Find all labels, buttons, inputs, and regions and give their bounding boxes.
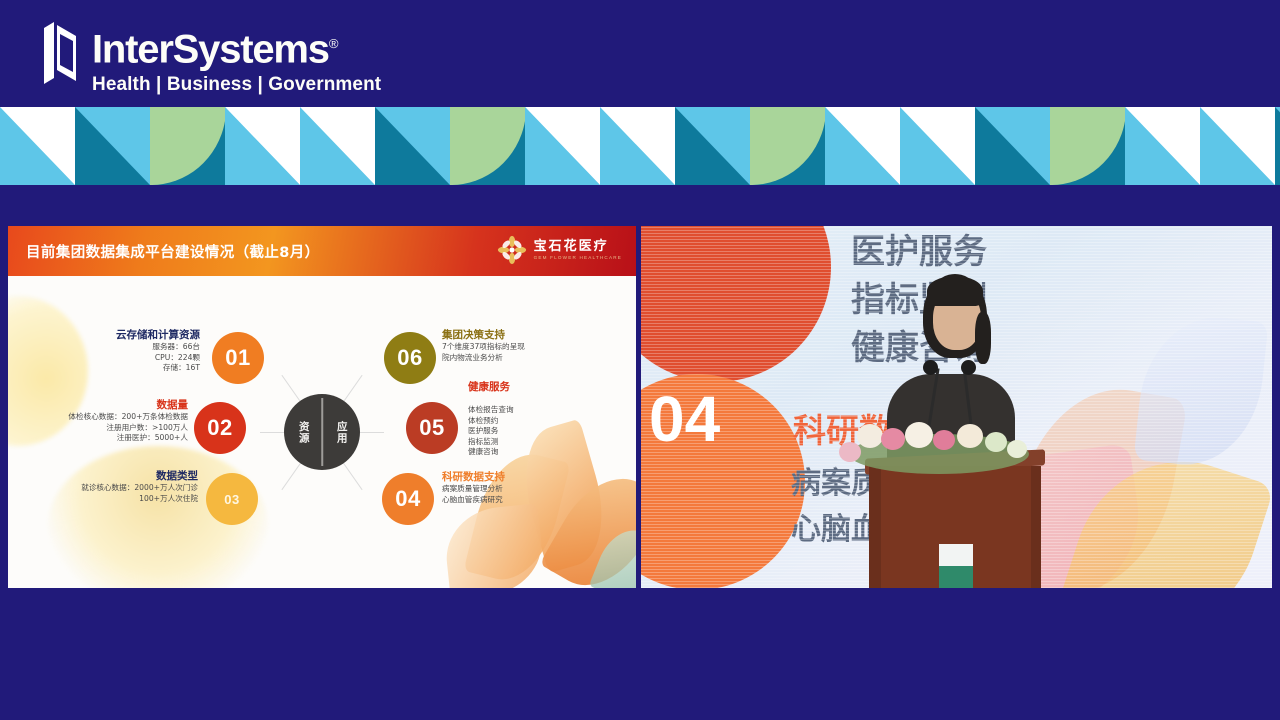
hub-divider <box>321 398 323 466</box>
hub-label-left: 资源 <box>284 421 322 444</box>
presentation-slide: 目前集团数据集成平台建设情况（截止8月） <box>8 226 636 588</box>
hub-label-right: 应用 <box>322 421 360 444</box>
intersystems-brand-lockup: InterSystems® Health | Business | Govern… <box>44 22 381 96</box>
intersystems-cube-icon <box>44 22 78 84</box>
band-tile-quarter-green-dark <box>750 107 825 185</box>
band-tile-tri-light-white <box>600 107 675 185</box>
gem-flower-icon <box>497 235 527 265</box>
node-text-06: 集团决策支持 7个维度37项指标的呈现 院内物流业务分析 <box>442 328 632 363</box>
gem-flower-logo: 宝石花医疗 GEM FLOWER HEALTHCARE <box>497 235 622 265</box>
node-text-05: 健康服务 <box>468 380 636 394</box>
band-tile-tri-white-light <box>525 107 600 185</box>
registered-mark: ® <box>329 36 337 51</box>
gem-flower-name-en: GEM FLOWER HEALTHCARE <box>534 254 622 261</box>
node-circle-03[interactable]: 03 <box>206 473 258 525</box>
node-circle-05[interactable]: 05 <box>406 402 458 454</box>
node-text-02: 数据量 体检核心数据：200+万条体检数据 注册用户数：>100万人 注册医护：… <box>16 398 188 444</box>
band-tile-tri-dark-light <box>975 107 1050 185</box>
brand-name: InterSystems® <box>92 22 381 71</box>
band-tile-quarter-green-dark <box>450 107 525 185</box>
band-tile-tri-white-light <box>225 107 300 185</box>
slide-panel[interactable]: 目前集团数据集成平台建设情况（截止8月） <box>8 226 636 588</box>
band-tile-tri-light-white <box>1200 107 1275 185</box>
node-text-04: 科研数据支持 病案质量管理分析 心脑血管疾病研究 <box>442 470 622 505</box>
podium-plate-top <box>939 544 973 566</box>
slide-title: 目前集团数据集成平台建设情况（截止8月） <box>26 241 320 262</box>
band-tile-tri-dark-light <box>75 107 150 185</box>
band-tile-tri-light-white <box>0 107 75 185</box>
node-text-03: 数据类型 就诊核心数据：2000+万人次门诊 100+万人次住院 <box>26 469 198 504</box>
node-circle-02[interactable]: 02 <box>194 402 246 454</box>
slide-title-bar: 目前集团数据集成平台建设情况（截止8月） <box>8 226 636 276</box>
diagram-hub: 资源 应用 <box>284 394 360 470</box>
speaker-at-podium-photo: 04 医护服务 指标监测 健康咨询 科研数据 病案质 心脑血管疾 <box>641 226 1272 588</box>
brand-tagline: Health | Business | Government <box>92 74 381 96</box>
band-tile-tri-white-light <box>1125 107 1200 185</box>
node-text-01: 云存储和计算资源 服务器：66台 CPU：224颗 存储：16T <box>68 328 200 374</box>
node-circle-06[interactable]: 06 <box>384 332 436 384</box>
node-circle-04[interactable]: 04 <box>382 473 434 525</box>
band-tile-tri-dark-light <box>1275 107 1280 185</box>
gem-flower-name-cn: 宝石花医疗 <box>534 240 622 254</box>
band-tile-quarter-green-dark <box>150 107 225 185</box>
band-tile-tri-light-white <box>900 107 975 185</box>
node-circle-01[interactable]: 01 <box>212 332 264 384</box>
node-text-05-lines: 体检报告查询 体检预约 医护服务 指标监测 健康咨询 <box>468 405 636 458</box>
speaker-video-panel[interactable]: 04 医护服务 指标监测 健康咨询 科研数据 病案质 心脑血管疾 <box>641 226 1272 588</box>
presentation-stage: InterSystems® Health | Business | Govern… <box>0 0 1280 720</box>
speaker-ponytail <box>975 312 991 364</box>
slide-body: 资源 应用 01 02 03 04 05 06 云存储和计算资源 服务器：66台… <box>8 276 636 588</box>
mic-head-right <box>961 360 976 375</box>
band-tile-tri-light-white <box>300 107 375 185</box>
band-tile-quarter-green-dark <box>1050 107 1125 185</box>
mic-head-left <box>923 360 938 375</box>
band-tile-tri-white-light <box>825 107 900 185</box>
brand-name-text: InterSystems <box>92 27 329 71</box>
decorative-pattern-band <box>0 107 1280 185</box>
band-tile-tri-dark-light <box>675 107 750 185</box>
speaker-fringe <box>927 276 983 306</box>
band-tile-tri-dark-light <box>375 107 450 185</box>
